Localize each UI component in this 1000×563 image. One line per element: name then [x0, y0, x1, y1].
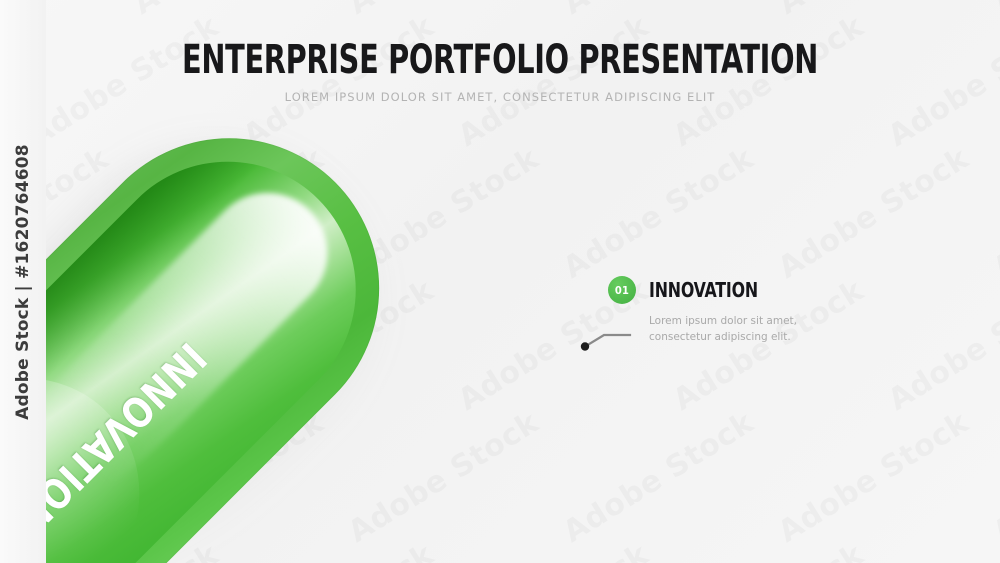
- page-title: ENTERPRISE PORTFOLIO PRESENTATION: [100, 40, 900, 80]
- capsule-outer-rim: INNOVATION: [0, 76, 441, 563]
- side-credit-bar: Adobe Stock | #1620764608: [0, 0, 46, 563]
- step-number-badge: 01: [608, 276, 636, 304]
- watermark-text: Adobe Stock: [127, 0, 330, 22]
- slide-canvas: Adobe StockAdobe StockAdobe StockAdobe S…: [0, 0, 1000, 563]
- watermark-text: Adobe Stock: [987, 405, 1000, 550]
- watermark-text: Adobe Stock: [772, 141, 975, 286]
- watermark-text: Adobe Stock: [882, 537, 1000, 563]
- annotation-body-text: Lorem ipsum dolor sit amet, consectetur …: [649, 313, 829, 346]
- watermark-text: Adobe Stock: [772, 0, 975, 22]
- watermark-text: Adobe Stock: [987, 0, 1000, 22]
- leader-dot: [581, 342, 589, 350]
- leader-line: [578, 328, 638, 352]
- watermark-text: Adobe Stock: [772, 405, 975, 550]
- watermark-text: Adobe Stock: [342, 0, 545, 22]
- annotation-title: INNOVATION: [649, 278, 758, 302]
- watermark-text: Adobe Stock: [882, 273, 1000, 418]
- watermark-text: Adobe Stock: [557, 0, 760, 22]
- step-number-text: 01: [615, 284, 629, 297]
- header: ENTERPRISE PORTFOLIO PRESENTATION LOREM …: [0, 40, 1000, 104]
- annotation-heading-row: 01 INNOVATION: [608, 276, 838, 304]
- watermark-text: Adobe Stock: [557, 141, 760, 286]
- side-credit-text: Adobe Stock | #1620764608: [13, 144, 33, 420]
- capsule-inner-body: INNOVATION: [0, 109, 409, 563]
- annotation-block-01: 01 INNOVATION Lorem ipsum dolor sit amet…: [608, 276, 838, 346]
- leader-line-path: [586, 335, 630, 346]
- watermark-text: Adobe Stock: [987, 141, 1000, 286]
- page-subtitle: LOREM IPSUM DOLOR SIT AMET, CONSECTETUR …: [0, 90, 1000, 104]
